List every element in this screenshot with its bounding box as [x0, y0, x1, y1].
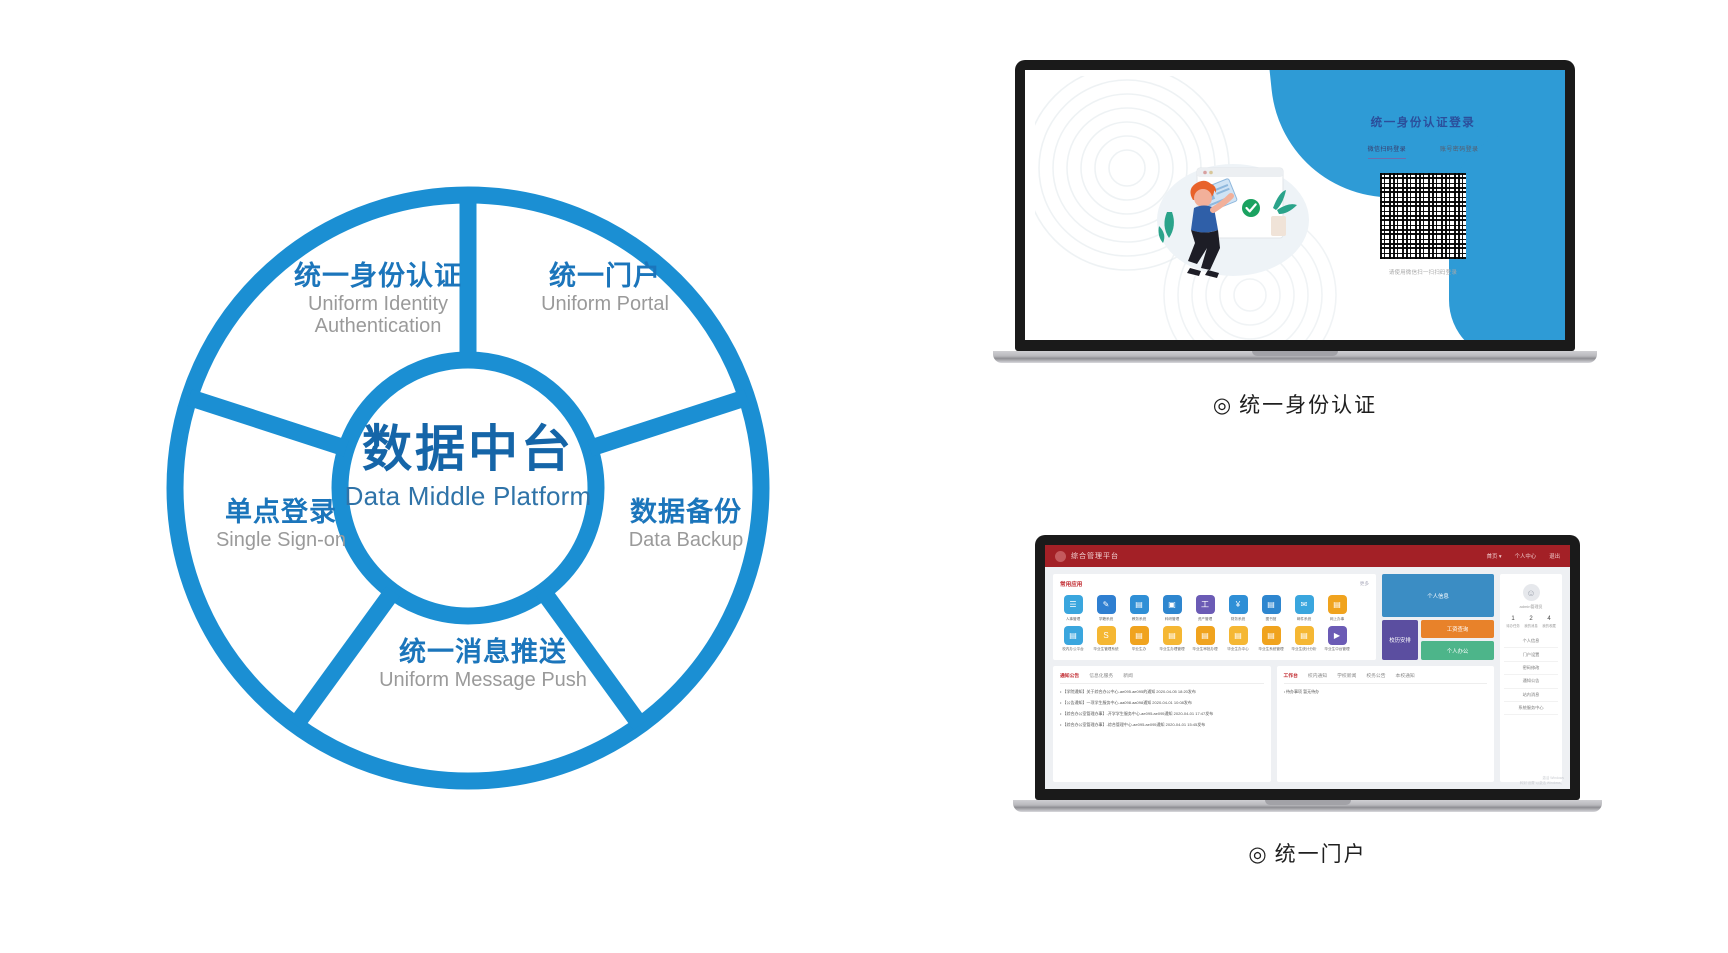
workbench-tab-school-news[interactable]: 学校新闻 — [1337, 672, 1356, 679]
app-item[interactable]: ✎学籍系统 — [1093, 595, 1119, 621]
app-icon: ▤ — [1229, 626, 1248, 645]
list-item[interactable]: • 【综合办公室管理办事】-开学学生服务中心-ae095.ae095通知 202… — [1060, 711, 1264, 717]
laptop-base — [993, 351, 1597, 363]
app-item[interactable]: S毕业生管理系统 — [1093, 626, 1119, 652]
app-icon: ✉ — [1295, 595, 1314, 614]
app-icon: ☰ — [1064, 595, 1083, 614]
portal-main-column: 常用应用 更多 ☰人事管理✎学籍系统▤教务系统▣科研管理工资产管理¥财务系统▤图… — [1053, 574, 1494, 782]
app-item[interactable]: ▤教务系统 — [1126, 595, 1152, 621]
tab-wechat-qr-login[interactable]: 微信扫码登录 — [1368, 144, 1406, 159]
tile-salary-query[interactable]: 工资查询 — [1421, 620, 1494, 638]
portal-app: 综合管理平台 首页 ▾ 个人中心 退出 — [1045, 545, 1570, 789]
list-item[interactable]: • 待办事项 暂无待办 — [1284, 689, 1488, 695]
nav-item-personal-center[interactable]: 个人中心 — [1515, 552, 1537, 560]
notice-card: 通知公告 信息化服务 新闻 • 【学院通知】关于综合办公中心-ae095.ae0… — [1053, 666, 1271, 782]
portal-nav: 首页 ▾ 个人中心 退出 — [1487, 552, 1560, 560]
caption-text: 统一身份认证 — [1239, 394, 1377, 417]
notice-tabs: 通知公告 信息化服务 新闻 — [1060, 672, 1264, 684]
workbench-rows: • 待办事项 暂无待办 — [1284, 689, 1488, 695]
stat-item[interactable]: 2我的消息 — [1524, 616, 1538, 628]
app-label: 毕业生办理管理 — [1159, 647, 1185, 651]
app-icon: S — [1097, 626, 1116, 645]
laptop-base-2 — [1013, 800, 1602, 812]
app-item[interactable]: ▤校内办公平台 — [1060, 626, 1086, 652]
app-icon: ▤ — [1328, 595, 1347, 614]
app-item[interactable]: ▤毕业生统计分析 — [1291, 626, 1317, 652]
screenshot-uniform-identity-authentication: 统一身份认证登录 微信扫码登录 账号密码登录 请使用微信扫一扫扫码登录 ◎统一身… — [1015, 60, 1575, 419]
app-label: 毕业生办 — [1126, 647, 1152, 651]
apps-card-header: 常用应用 更多 — [1060, 580, 1369, 588]
app-icon: 工 — [1196, 595, 1215, 614]
caption-marker-icon: ◎ — [1213, 394, 1233, 417]
app-label: 毕业生统计分析 — [1291, 647, 1317, 651]
shot-caption-portal: ◎统一门户 — [1035, 838, 1580, 868]
app-label: 毕业生管理系统 — [1093, 647, 1119, 651]
app-label: 资产管理 — [1192, 617, 1218, 621]
portal-header: 综合管理平台 首页 ▾ 个人中心 退出 — [1045, 545, 1570, 567]
app-item[interactable]: ▤图书馆 — [1258, 595, 1284, 621]
app-icon: ▤ — [1130, 626, 1149, 645]
workbench-tabs: 工作台 校内通知 学校新闻 校务公告 本校通知 — [1284, 672, 1488, 684]
stat-value: 4 — [1542, 616, 1556, 622]
app-label: 毕业生审批办理 — [1192, 647, 1218, 651]
slide-canvas: 统一身份认证 Uniform Identity Authentication 统… — [0, 0, 1728, 953]
stat-label: 我的收藏 — [1542, 623, 1556, 628]
notice-tab-announcements[interactable]: 通知公告 — [1060, 672, 1079, 679]
sidebar-menu-item[interactable]: 通知公告 — [1504, 675, 1558, 688]
sidebar-menu-item[interactable]: 密码修改 — [1504, 662, 1558, 675]
app-icon: ▤ — [1163, 626, 1182, 645]
portal-brand[interactable]: 综合管理平台 — [1055, 551, 1119, 562]
tile-personal-office[interactable]: 个人办公 — [1421, 641, 1494, 659]
laptop-bezel: 统一身份认证登录 微信扫码登录 账号密码登录 请使用微信扫一扫扫码登录 — [1015, 60, 1575, 351]
stat-value: 1 — [1506, 616, 1520, 622]
app-item[interactable]: ▤毕业生办 — [1126, 626, 1152, 652]
laptop-mockup: 统一身份认证登录 微信扫码登录 账号密码登录 请使用微信扫一扫扫码登录 — [1015, 60, 1575, 363]
screenshot-uniform-portal: 综合管理平台 首页 ▾ 个人中心 退出 — [1035, 535, 1580, 868]
app-icon: ▣ — [1163, 595, 1182, 614]
app-icon: ▤ — [1064, 626, 1083, 645]
app-icon: ¥ — [1229, 595, 1248, 614]
app-label: 毕业生办中心 — [1225, 647, 1251, 651]
portal-sidebar: ☺ admin管理员 1待办任务2我的消息4我的收藏 个人信息门户设置密码修改通… — [1500, 574, 1562, 782]
app-label: 网上办事 — [1324, 617, 1350, 621]
donut-ring-graphic — [148, 168, 788, 808]
app-label: 财务系统 — [1225, 617, 1251, 621]
stat-item[interactable]: 4我的收藏 — [1542, 616, 1556, 628]
caption-text-2: 统一门户 — [1275, 843, 1367, 866]
app-item[interactable]: ▤毕业生办理管理 — [1159, 626, 1185, 652]
app-label: 科研管理 — [1159, 617, 1185, 621]
list-item[interactable]: • 【公告通知】一项学生服务中心-aa098.aa098通知 2020-04-0… — [1060, 700, 1264, 706]
portal-lists: 通知公告 信息化服务 新闻 • 【学院通知】关于综合办公中心-ae095.ae0… — [1053, 666, 1494, 782]
list-item[interactable]: • 【学院通知】关于综合办公中心-ae095.ae095的通知 2020-04-… — [1060, 689, 1264, 695]
app-label: 邮件系统 — [1291, 617, 1317, 621]
workbench-card: 工作台 校内通知 学校新闻 校务公告 本校通知 • 待办事项 暂无待办 — [1277, 666, 1495, 782]
apps-more-link[interactable]: 更多 — [1360, 581, 1369, 587]
login-screen: 统一身份认证登录 微信扫码登录 账号密码登录 请使用微信扫一扫扫码登录 — [1025, 70, 1565, 340]
app-icon: ▤ — [1262, 626, 1281, 645]
tiles-column: 个人信息 校历安排 工资查询 个人办公 — [1382, 574, 1494, 660]
app-label: 教务系统 — [1126, 617, 1152, 621]
app-item[interactable]: ▤毕业生系统管理 — [1258, 626, 1284, 652]
sidebar-username: admin管理员 — [1504, 604, 1558, 610]
app-icon: ✎ — [1097, 595, 1116, 614]
list-item[interactable]: • 【综合办公室管理办事】-综合管理中心-ae095.ae095通知 2020-… — [1060, 722, 1264, 728]
windows-activation-watermark: 激活 Windows转到"设置"以激活 Windows。 — [1520, 776, 1564, 785]
notice-tab-it-services[interactable]: 信息化服务 — [1089, 672, 1113, 679]
workbench-tab-local-notice[interactable]: 本校通知 — [1396, 672, 1415, 679]
tiles-lower-row: 校历安排 工资查询 个人办公 — [1382, 620, 1494, 659]
caption-marker-icon-2: ◎ — [1248, 843, 1268, 866]
stat-item[interactable]: 1待办任务 — [1506, 616, 1520, 628]
app-label: 图书馆 — [1258, 617, 1284, 621]
workbench-tab-worktable[interactable]: 工作台 — [1284, 672, 1298, 679]
app-icon: ▤ — [1130, 595, 1149, 614]
apps-grid: ☰人事管理✎学籍系统▤教务系统▣科研管理工资产管理¥财务系统▤图书馆✉邮件系统▤… — [1060, 595, 1369, 652]
brand-logo-icon — [1055, 551, 1066, 562]
app-item[interactable]: ✉邮件系统 — [1291, 595, 1317, 621]
shot-caption-auth: ◎统一身份认证 — [1015, 389, 1575, 419]
login-tab-bar: 微信扫码登录 账号密码登录 — [1323, 144, 1523, 159]
login-title: 统一身份认证登录 — [1323, 114, 1523, 130]
stat-value: 2 — [1524, 616, 1538, 622]
laptop-notch-2 — [1265, 800, 1351, 805]
tiles-inner-column: 工资查询 个人办公 — [1421, 620, 1494, 659]
app-label: 校内办公平台 — [1060, 647, 1086, 651]
tile-calendar[interactable]: 校历安排 — [1382, 620, 1418, 659]
qr-code-image[interactable] — [1380, 173, 1466, 259]
stat-label: 待办任务 — [1506, 623, 1520, 628]
sidebar-menu-item[interactable]: 个人信息 — [1504, 635, 1558, 648]
app-item[interactable]: ▤毕业生审批办理 — [1192, 626, 1218, 652]
app-icon: ▶ — [1328, 626, 1347, 645]
app-icon: ▤ — [1295, 626, 1314, 645]
sidebar-stats: 1待办任务2我的消息4我的收藏 — [1504, 616, 1558, 628]
workbench-tab-campus-notice[interactable]: 校内通知 — [1308, 672, 1327, 679]
notice-rows: • 【学院通知】关于综合办公中心-ae095.ae095的通知 2020-04-… — [1060, 689, 1264, 728]
portal-body: 常用应用 更多 ☰人事管理✎学籍系统▤教务系统▣科研管理工资产管理¥财务系统▤图… — [1045, 567, 1570, 789]
app-label: 学籍系统 — [1093, 617, 1119, 621]
sidebar-menu-item[interactable]: 门户设置 — [1504, 648, 1558, 661]
data-middle-platform-donut: 统一身份认证 Uniform Identity Authentication 统… — [148, 168, 788, 808]
app-label: 毕业生系统管理 — [1258, 647, 1284, 651]
laptop-bezel-2: 综合管理平台 首页 ▾ 个人中心 退出 — [1035, 535, 1580, 800]
brand-name: 综合管理平台 — [1071, 551, 1119, 561]
login-illustration — [1145, 146, 1325, 286]
app-icon: ▤ — [1196, 626, 1215, 645]
app-item[interactable]: ¥财务系统 — [1225, 595, 1251, 621]
app-item[interactable]: 工资产管理 — [1192, 595, 1218, 621]
nav-item-home[interactable]: 首页 ▾ — [1487, 552, 1502, 560]
workbench-tab-affairs[interactable]: 校务公告 — [1366, 672, 1385, 679]
app-label: 毕业生中台管理 — [1324, 647, 1350, 651]
login-panel: 统一身份认证登录 微信扫码登录 账号密码登录 请使用微信扫一扫扫码登录 — [1323, 114, 1523, 276]
app-item[interactable]: ▣科研管理 — [1159, 595, 1185, 621]
app-label: 人事管理 — [1060, 617, 1086, 621]
sidebar-menu-item[interactable]: 系统服务中心 — [1504, 702, 1558, 715]
app-item[interactable]: ▤毕业生办中心 — [1225, 626, 1251, 652]
qr-hint-text: 请使用微信扫一扫扫码登录 — [1323, 268, 1523, 276]
stat-label: 我的消息 — [1524, 623, 1538, 628]
tile-personal-info[interactable]: 个人信息 — [1382, 574, 1494, 617]
avatar[interactable]: ☺ — [1523, 584, 1540, 601]
quick-tiles: 个人信息 校历安排 工资查询 个人办公 — [1382, 574, 1494, 660]
tab-password-login[interactable]: 账号密码登录 — [1440, 144, 1478, 159]
app-icon: ▤ — [1262, 595, 1281, 614]
app-item[interactable]: ☰人事管理 — [1060, 595, 1086, 621]
app-item[interactable]: ▶毕业生中台管理 — [1324, 626, 1350, 652]
apps-card-title: 常用应用 — [1060, 580, 1082, 588]
app-item[interactable]: ▤网上办事 — [1324, 595, 1350, 621]
notice-tab-news[interactable]: 新闻 — [1123, 672, 1133, 679]
laptop-mockup-2: 综合管理平台 首页 ▾ 个人中心 退出 — [1035, 535, 1580, 812]
common-apps-card: 常用应用 更多 ☰人事管理✎学籍系统▤教务系统▣科研管理工资产管理¥财务系统▤图… — [1053, 574, 1376, 660]
sidebar-menu-item[interactable]: 站内消息 — [1504, 689, 1558, 702]
portal-screen: 综合管理平台 首页 ▾ 个人中心 退出 — [1045, 545, 1570, 789]
laptop-notch — [1252, 351, 1338, 356]
sidebar-menu: 个人信息门户设置密码修改通知公告站内消息系统服务中心 — [1504, 635, 1558, 715]
nav-item-logout[interactable]: 退出 — [1549, 552, 1560, 560]
